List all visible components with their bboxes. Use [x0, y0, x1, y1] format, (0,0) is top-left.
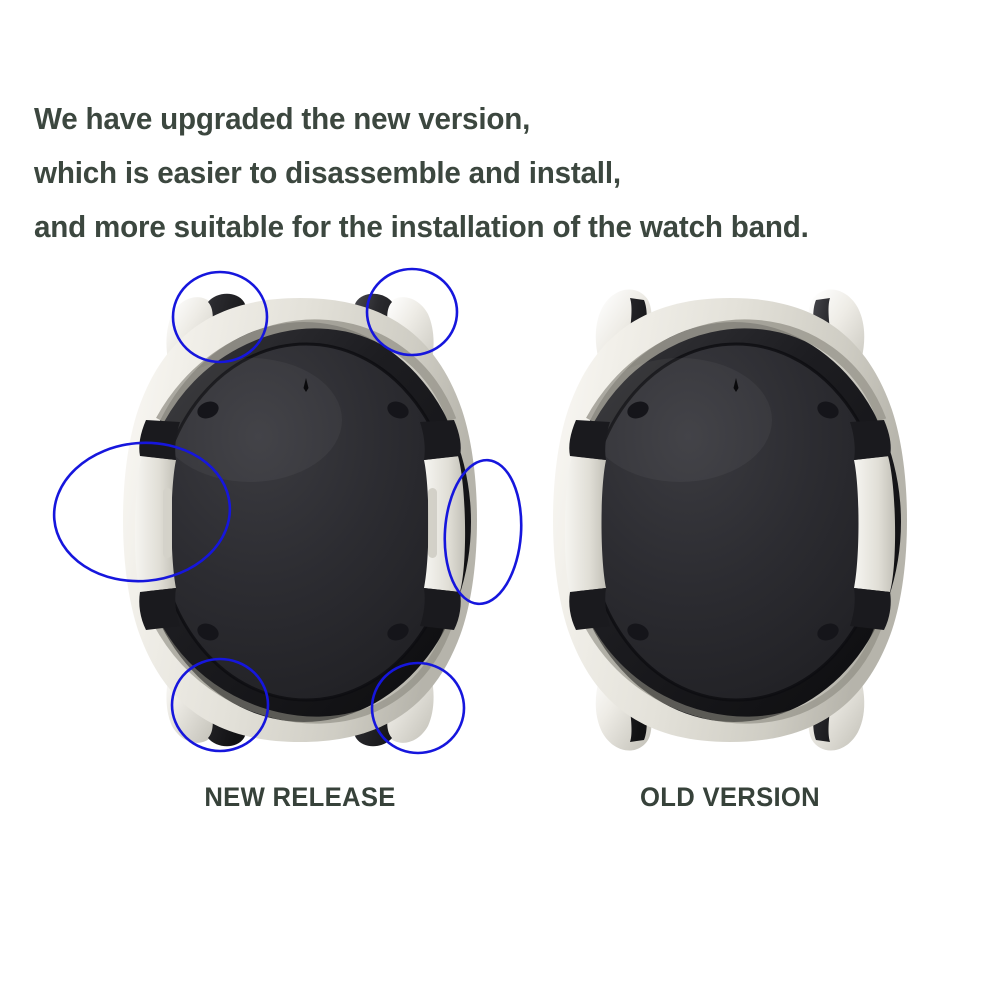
watch-case-old-image — [520, 270, 940, 770]
left-cutout-lower — [139, 588, 180, 630]
headline-line-2: which is easier to disassemble and insta… — [34, 146, 946, 200]
old-screen-sheen — [588, 358, 772, 482]
old-right-side-button-pad — [854, 456, 895, 592]
left-side-button-groove — [163, 488, 172, 558]
left-cutout-upper — [139, 420, 180, 460]
caption-old-version: OLD VERSION — [531, 782, 930, 813]
headline-line-1: We have upgraded the new version, — [34, 92, 946, 146]
figure-new-release: NEW RELEASE — [90, 270, 510, 870]
product-comparison-stage: NEW RELEASE — [0, 270, 1000, 870]
old-left-side-button-pad — [565, 456, 606, 592]
headline-block: We have upgraded the new version, which … — [34, 92, 974, 254]
watch-case-new-image — [90, 270, 510, 770]
old-left-cutout-lower — [569, 588, 610, 630]
right-cutout-lower — [420, 588, 461, 630]
headline-line-3: and more suitable for the installation o… — [34, 200, 946, 254]
old-left-cutout-upper — [569, 420, 610, 460]
old-right-cutout-upper — [850, 420, 891, 460]
figure-old-version: OLD VERSION — [520, 270, 940, 870]
watch-case-new-illustration — [90, 270, 510, 770]
screen-sheen — [158, 358, 342, 482]
watch-case-old-illustration — [520, 270, 940, 770]
right-side-button-groove — [428, 488, 437, 558]
right-cutout-upper — [420, 420, 461, 460]
old-right-cutout-lower — [850, 588, 891, 630]
caption-new-release: NEW RELEASE — [101, 782, 500, 813]
